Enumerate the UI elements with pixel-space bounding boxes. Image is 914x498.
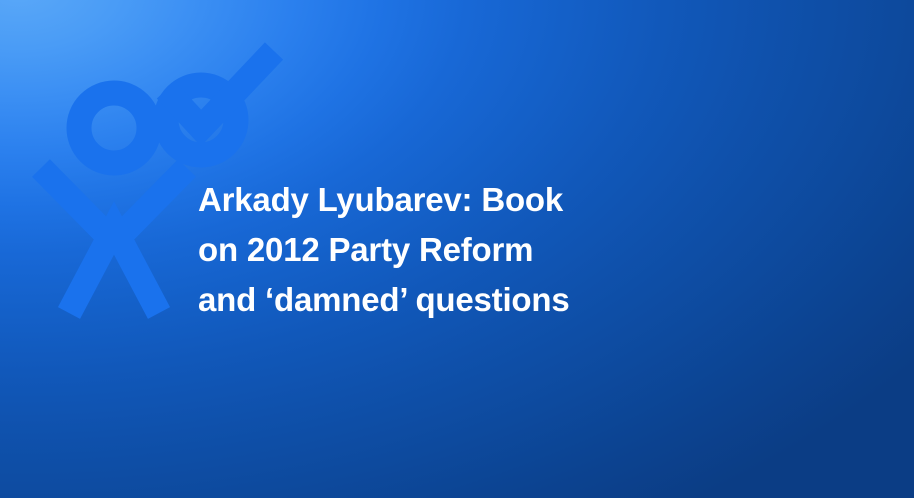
banner-title: Arkady Lyubarev: Book on 2012 Party Refo…	[198, 175, 628, 325]
title-line-2: on 2012 Party Reform	[198, 225, 628, 275]
title-line-1: Arkady Lyubarev: Book	[198, 175, 628, 225]
title-line-3: and ‘damned’ questions	[198, 275, 628, 325]
promo-banner: Arkady Lyubarev: Book on 2012 Party Refo…	[0, 0, 914, 498]
logo-legs-chevron	[69, 228, 159, 313]
logo-left-eye-ring	[79, 93, 149, 163]
